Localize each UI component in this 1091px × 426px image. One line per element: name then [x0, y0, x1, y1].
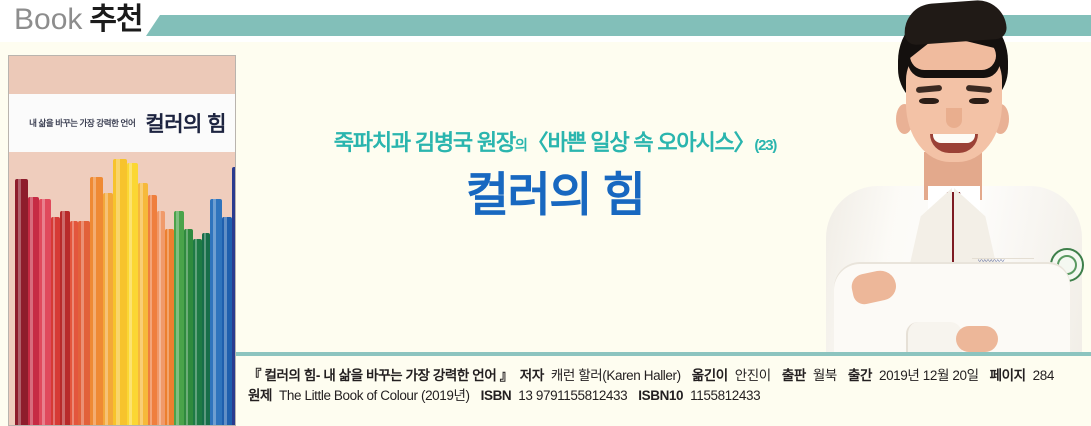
caption-pubdate-value: 2019년 12월 20일: [879, 368, 979, 383]
cover-pencil: [157, 211, 165, 425]
kicker-label-ko: 추천: [89, 3, 142, 36]
portrait-teeth: [933, 134, 975, 143]
cover-pencil: [60, 211, 70, 425]
headline-block: 죽파치과 김병국 원장의〈바쁜 일상 속 오아시스〉(23) 컬러의 힘: [245, 130, 865, 222]
cover-pencil: [193, 239, 202, 425]
portrait-hand-right: [956, 326, 998, 352]
cover-pencil: [51, 217, 60, 425]
cover-subtitle: 내 삶을 바꾸는 가장 강력한 언어: [29, 117, 135, 129]
caption-pages-label: 페이지: [990, 368, 1026, 383]
caption-book-title: 『 컬러의 힘- 내 삶을 바꾸는 가장 강력한 언어 』: [248, 368, 513, 383]
article-eyebrow: 죽파치과 김병국 원장의〈바쁜 일상 속 오아시스〉(23): [245, 130, 865, 156]
portrait-eye-right: [969, 98, 989, 104]
caption-divider: [236, 352, 1091, 356]
cover-pencil: [184, 229, 193, 425]
section-kicker: Book추천: [14, 2, 143, 42]
caption-line-2: 원제The Little Book of Colour (2019년)ISBN1…: [248, 386, 1084, 406]
cover-pencil: [222, 217, 232, 425]
cover-pencil: [15, 179, 28, 425]
cover-pencil: [202, 233, 210, 425]
cover-pencil: [39, 199, 51, 425]
author-portrait: 〰〰〰〰: [812, 0, 1091, 356]
cover-pencil: [232, 167, 236, 425]
caption-isbn10-value: 1155812433: [690, 388, 760, 403]
caption-line-1: 『 컬러의 힘- 내 삶을 바꾸는 가장 강력한 언어 』저자캐런 할러(Kar…: [248, 366, 1084, 386]
portrait-sleeve-cuff: [906, 322, 962, 356]
caption-author-label: 저자: [520, 368, 544, 383]
caption-translator-label: 옮긴이: [692, 368, 728, 383]
cover-pencil: [90, 177, 103, 425]
caption-publisher-label: 출판: [782, 368, 806, 383]
caption-isbn13-value: 13 9791155812433: [518, 388, 627, 403]
cover-title: 컬러의 힘: [145, 108, 226, 138]
cover-title-band: 내 삶을 바꾸는 가장 강력한 언어 컬러의 힘: [9, 94, 235, 152]
book-metadata-caption: 『 컬러의 힘- 내 삶을 바꾸는 가장 강력한 언어 』저자캐런 할러(Kar…: [248, 366, 1084, 406]
article-title: 컬러의 힘: [245, 168, 865, 222]
cover-pencil: [165, 229, 174, 425]
cover-pencil: [127, 163, 138, 425]
cover-pencil: [28, 197, 39, 425]
caption-pubdate-label: 출간: [848, 368, 872, 383]
eyebrow-episode-number: (23): [754, 137, 776, 154]
cover-pencil: [78, 221, 90, 425]
cover-pencil: [138, 183, 148, 425]
cover-pencil: [103, 193, 113, 425]
portrait-nose: [946, 108, 962, 128]
caption-isbn10-label: ISBN10: [638, 388, 683, 403]
cover-pencil: [148, 195, 157, 425]
cover-pencil: [210, 199, 222, 425]
cover-pencil-illustration: The Little Book of ColourKaren Haller캐런 …: [9, 150, 235, 425]
cover-pencil: [113, 159, 127, 425]
caption-isbn13-label: ISBN: [481, 388, 512, 403]
cover-pencil: [174, 211, 184, 425]
eyebrow-series: 〈바쁜 일상 속 오아시스〉: [527, 130, 755, 155]
caption-publisher-value: 월북: [813, 368, 837, 383]
portrait-hair-top: [903, 0, 1008, 46]
book-recommendation-page: Book추천 내 삶을 바꾸는 가장 강력한 언어 컬러의 힘 The Litt…: [0, 0, 1091, 426]
caption-author-value: 캐런 할러(Karen Haller): [551, 368, 681, 383]
caption-pages-value: 284: [1033, 368, 1054, 383]
kicker-label-en: Book: [14, 3, 82, 36]
cover-pencil: [70, 221, 78, 425]
eyebrow-author: 죽파치과 김병국 원장: [334, 130, 515, 155]
cover-pencil-text: Karen Haller: [235, 277, 236, 329]
eyebrow-particle: 의: [515, 137, 527, 153]
caption-translator-value: 안진이: [735, 368, 771, 383]
book-cover-image: 내 삶을 바꾸는 가장 강력한 언어 컬러의 힘 The Little Book…: [8, 55, 236, 426]
cover-top-area: [9, 56, 235, 94]
caption-original-value: The Little Book of Colour (2019년): [279, 388, 470, 403]
caption-original-label: 원제: [248, 388, 272, 403]
portrait-eye-left: [919, 98, 939, 104]
